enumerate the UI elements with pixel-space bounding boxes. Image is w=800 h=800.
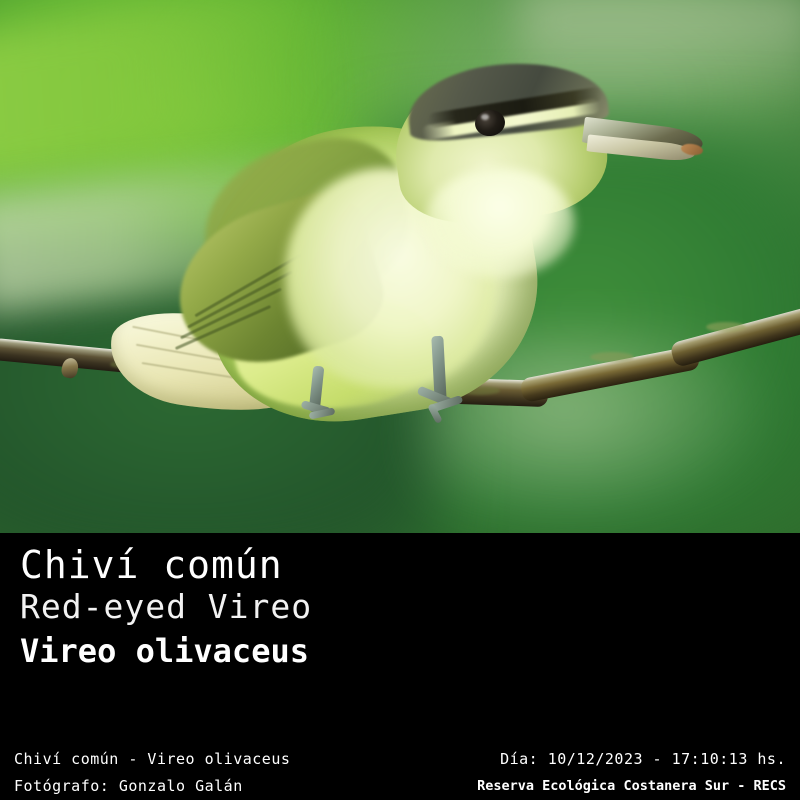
footer-photographer-line: Fotógrafo: Gonzalo Galán: [14, 773, 290, 800]
species-titles: Chiví común Red-eyed Vireo Vireo olivace…: [20, 543, 312, 671]
branch-segment: [669, 305, 800, 368]
footer-right: Día: 10/12/2023 - 17:10:13 hs. Reserva E…: [477, 746, 786, 800]
bird-photograph: [0, 0, 800, 533]
footer-bar: Chiví común - Vireo olivaceus Fotógrafo:…: [0, 740, 800, 800]
bird-photo-card: Chiví común Red-eyed Vireo Vireo olivace…: [0, 0, 800, 800]
scientific-name: Vireo olivaceus: [20, 631, 312, 671]
english-name: Red-eyed Vireo: [20, 587, 312, 627]
bird-subject: [95, 48, 625, 468]
common-name: Chiví común: [20, 543, 312, 587]
footer-left: Chiví común - Vireo olivaceus Fotógrafo:…: [14, 746, 290, 800]
branch-moss: [706, 322, 746, 332]
footer-location-line: Reserva Ecológica Costanera Sur - RECS: [477, 773, 786, 800]
bird-eye-glint: [481, 114, 489, 120]
footer-datetime-line: Día: 10/12/2023 - 17:10:13 hs.: [477, 746, 786, 773]
footer-species-line: Chiví común - Vireo olivaceus: [14, 746, 290, 773]
bird-throat: [425, 168, 575, 278]
